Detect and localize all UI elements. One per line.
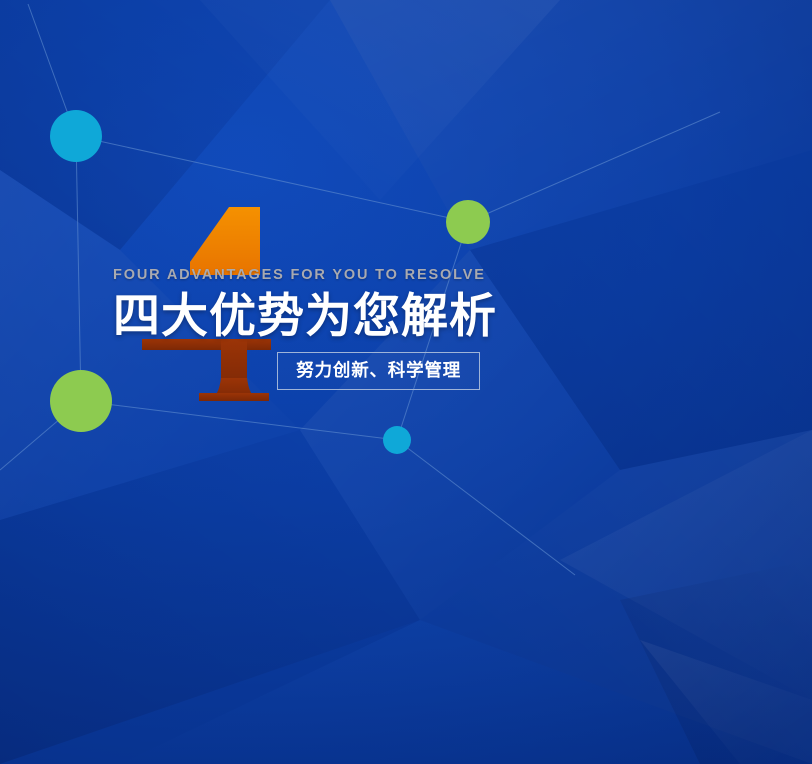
- tagline-badge: 努力创新、科学管理: [277, 352, 480, 391]
- numeral-four-base-bar: [199, 393, 269, 401]
- promo-banner: FOUR ADVANTAGES FOR YOU TO RESOLVE 四大优势为…: [0, 0, 812, 764]
- headline-block: FOUR ADVANTAGES FOR YOU TO RESOLVE 四大优势为…: [113, 268, 673, 390]
- eyebrow-text: FOUR ADVANTAGES FOR YOU TO RESOLVE: [113, 268, 673, 283]
- page-title: 四大优势为您解析: [113, 292, 673, 339]
- tagline-row: 努力创新、科学管理: [113, 352, 480, 391]
